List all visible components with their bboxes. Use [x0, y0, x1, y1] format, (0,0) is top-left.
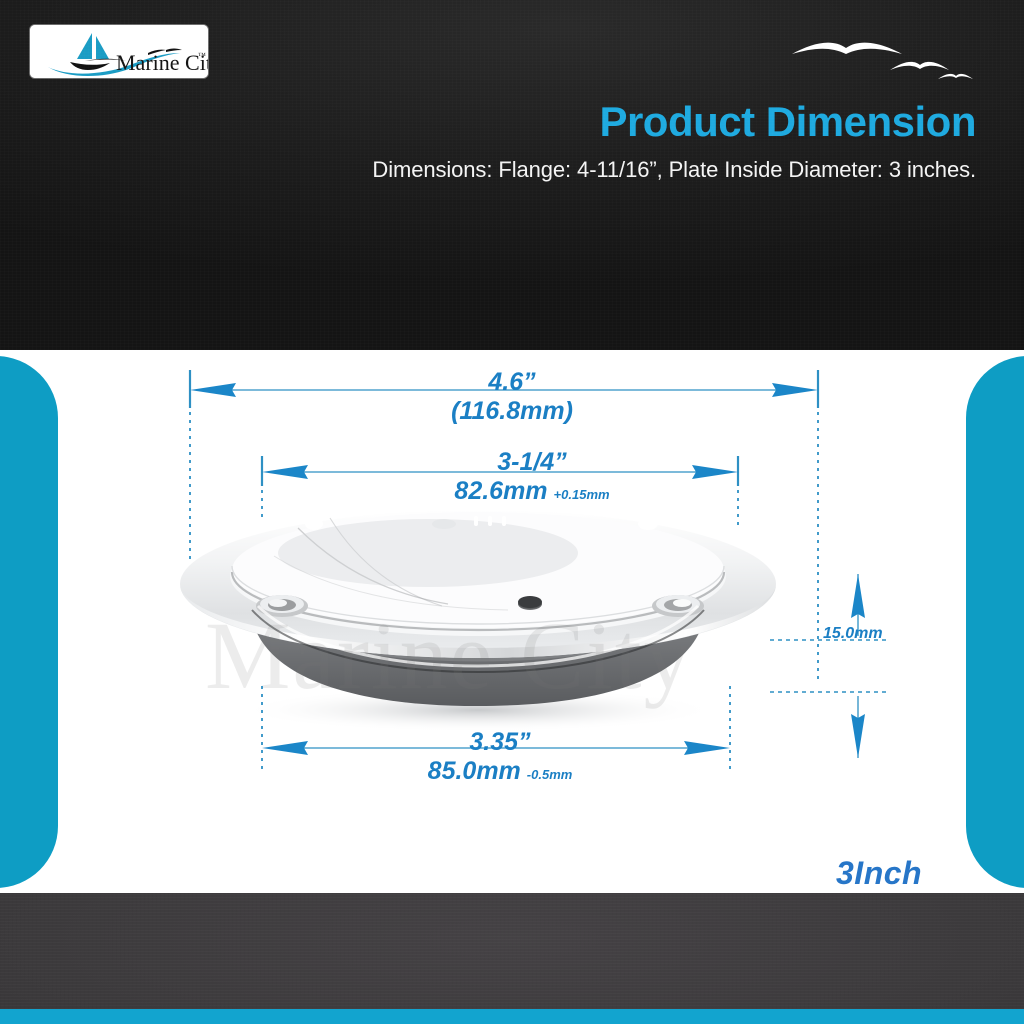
dim-plate-inner-mm-group: 82.6mm+0.15mm — [40, 477, 1024, 506]
seagulls-icon — [786, 32, 976, 87]
dim-barrel-outer-tolerance: -0.5mm — [527, 767, 573, 782]
sailboat-logo-icon: Marine City ™ — [30, 25, 208, 78]
dim-plate-inner-inch: 3-1/4” — [40, 448, 1024, 477]
page-subtitle: Dimensions: Flange: 4-11/16”, Plate Insi… — [372, 157, 976, 183]
dim-barrel-outer-inch: 3.35” — [0, 728, 1000, 757]
dim-plate-inner-tolerance: +0.15mm — [554, 487, 610, 502]
footer-accent-strip — [0, 1009, 1024, 1024]
dim-plate-inner-mm: 82.6mm — [454, 477, 547, 505]
brand-logo: Marine City ™ — [30, 25, 208, 78]
dim-flange-outer-mm: (116.8mm) — [0, 397, 1024, 426]
page-title: Product Dimension — [599, 98, 976, 146]
size-label: 3Inch — [836, 855, 922, 892]
product-dimension-infographic: Marine City ™ Product Dimension Dimensio… — [0, 0, 1024, 1024]
dimension-lines — [0, 350, 1024, 893]
svg-text:™: ™ — [198, 51, 206, 60]
header-banner: Marine City ™ Product Dimension Dimensio… — [0, 0, 1024, 350]
footer-band — [0, 893, 1024, 1009]
svg-text:Marine City: Marine City — [116, 50, 208, 75]
dim-height-mm: 15.0mm — [823, 625, 883, 643]
dim-barrel-outer-mm-group: 85.0mm-0.5mm — [0, 757, 1000, 786]
dim-barrel-outer-mm: 85.0mm — [428, 757, 521, 785]
dim-flange-outer-inch: 4.6” — [0, 368, 1024, 397]
